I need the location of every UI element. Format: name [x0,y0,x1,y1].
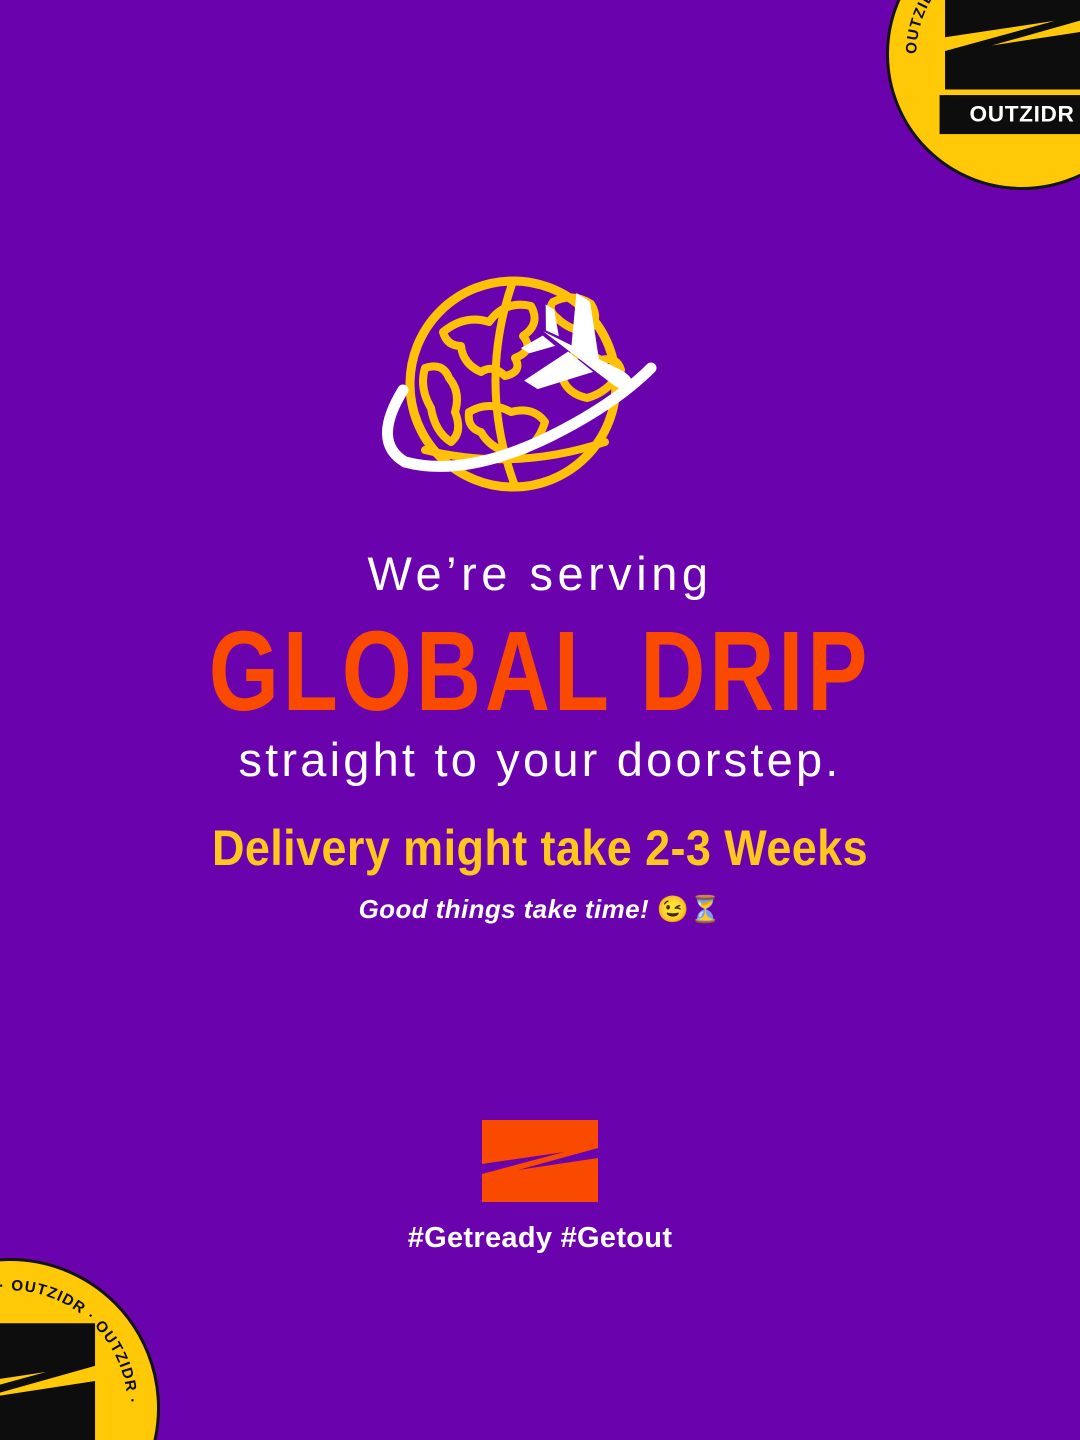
footer-brand-block: #Getready #Getout [0,1118,1080,1255]
globe-airplane-illustration [0,272,1080,502]
delivery-tagline: Good things take time! 😉⏳ [0,894,1080,925]
badge-core-top-right: OUTZIDR [940,0,1080,134]
badge-wordmark-top-right: OUTZIDR [947,100,1080,128]
outzidr-stamp-badge-bottom-left: OUTZIDR · OUTZIDR · OUTZIDR · OUTZIDR · … [0,1258,160,1440]
delivery-notice: Delivery might take 2-3 Weeks [0,820,1080,875]
promo-poster: OUTZIDR · OUTZIDR · OUTZIDR · OUTZIDR · … [0,0,1080,1440]
winking-face-icon: 😉 [657,894,689,924]
headline-line-2-global-drip: GLOBAL DRIP [16,615,1064,728]
outzidr-z-logo [478,1118,602,1204]
z-logo-icon [0,1320,101,1440]
badge-core-bottom-left: OUTZIDR [0,1320,101,1440]
hourglass-icon: ⏳ [689,894,721,924]
badge-wordmark-box-top-right: OUTZIDR [940,95,1080,134]
continent-shape-west [423,366,458,442]
headline-block: We’re serving GLOBAL DRIP straight to yo… [0,548,1080,786]
headline-line-3: straight to your doorstep. [0,734,1080,787]
svg-text:OUTZIDR: OUTZIDR [970,102,1075,127]
delivery-notice-block: Delivery might take 2-3 Weeks Good thing… [0,820,1080,925]
z-logo-icon [940,0,1080,92]
footer-hashtags: #Getready #Getout [408,1222,673,1255]
headline-line-1: We’re serving [0,548,1080,601]
delivery-tagline-text: Good things take time! [359,894,657,924]
outzidr-stamp-badge-top-right: OUTZIDR · OUTZIDR · OUTZIDR · OUTZIDR · … [886,0,1080,190]
continent-shape-north [443,305,535,376]
